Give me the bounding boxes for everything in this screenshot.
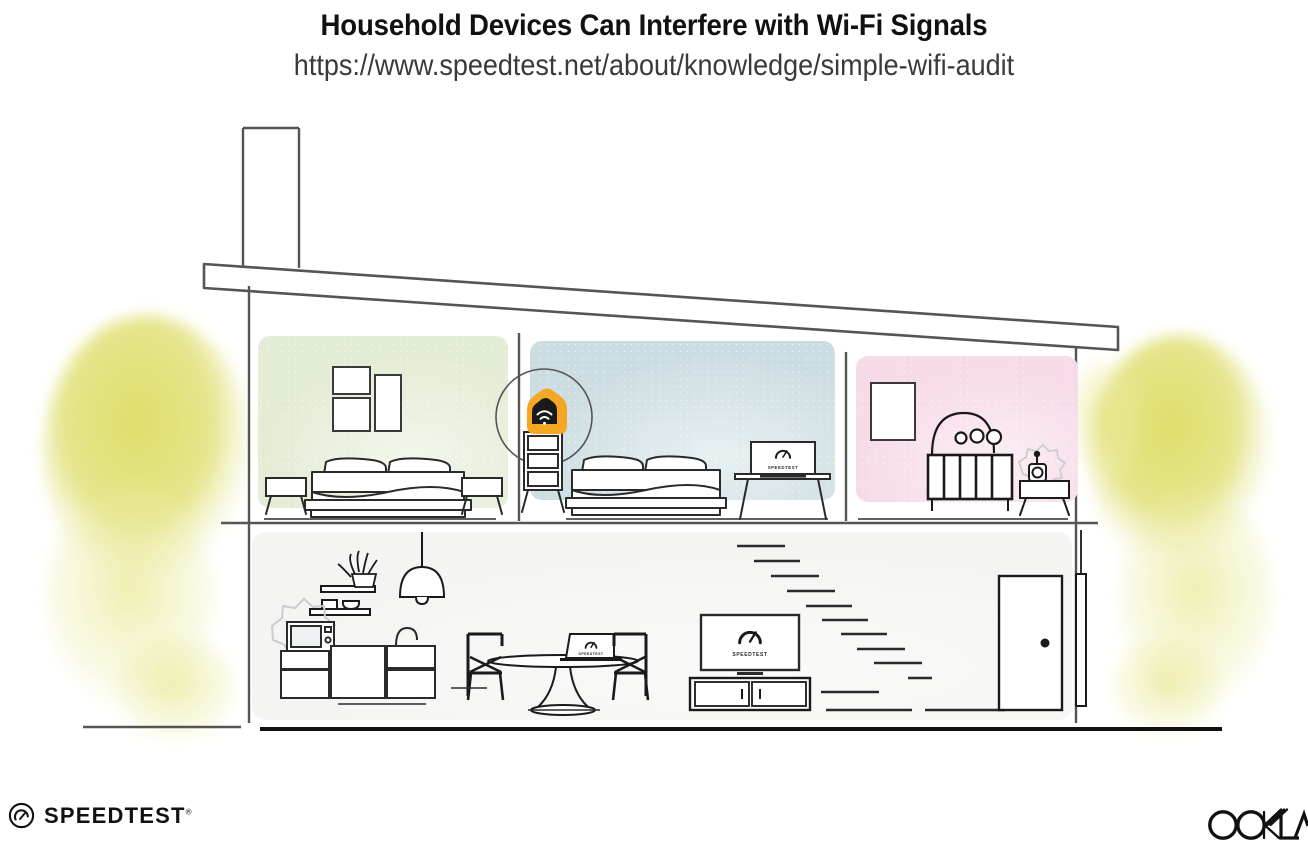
laptop-speedtest[interactable]: SPEEDTEST: [751, 442, 815, 478]
window: [1076, 530, 1086, 706]
ookla-wordmark-icon: [1203, 804, 1308, 846]
television-speedtest[interactable]: SPEEDTEST: [701, 615, 799, 675]
nightstand-left: [266, 478, 306, 514]
speedtest-logo-text: SPEEDTEST: [44, 803, 186, 828]
laptop-screen-label: SPEEDTEST: [768, 465, 799, 470]
foliage-right: [1068, 335, 1276, 738]
front-door[interactable]: [999, 576, 1062, 710]
microwave: [287, 622, 334, 651]
green-bedroom-wall-art: [333, 367, 401, 431]
foliage-left: [42, 315, 253, 745]
tv-screen-label: SPEEDTEST: [732, 652, 767, 658]
speedtest-logo[interactable]: SPEEDTEST®: [8, 802, 192, 829]
chimney: [243, 128, 299, 272]
speedtest-trademark: ®: [186, 807, 192, 816]
ookla-logo[interactable]: [1203, 804, 1308, 851]
blue-bedroom-bed: [566, 456, 726, 515]
speedtest-wordmark: SPEEDTEST®: [44, 803, 192, 829]
poster-canvas: Household Devices Can Interfere with Wi-…: [0, 0, 1308, 861]
door-knob-icon: [1041, 639, 1050, 648]
nursery-side-table: [1020, 481, 1069, 515]
house-cutaway-illustration: SPEEDTEST: [0, 0, 1308, 861]
nursery-wall-frame: [871, 383, 915, 440]
laptop-screen-label: SPEEDTEST: [579, 652, 604, 656]
speedometer-gauge-icon: [8, 802, 35, 829]
crib: [928, 455, 1012, 511]
media-console: [690, 678, 810, 710]
footer: SPEEDTEST®: [0, 790, 1308, 861]
